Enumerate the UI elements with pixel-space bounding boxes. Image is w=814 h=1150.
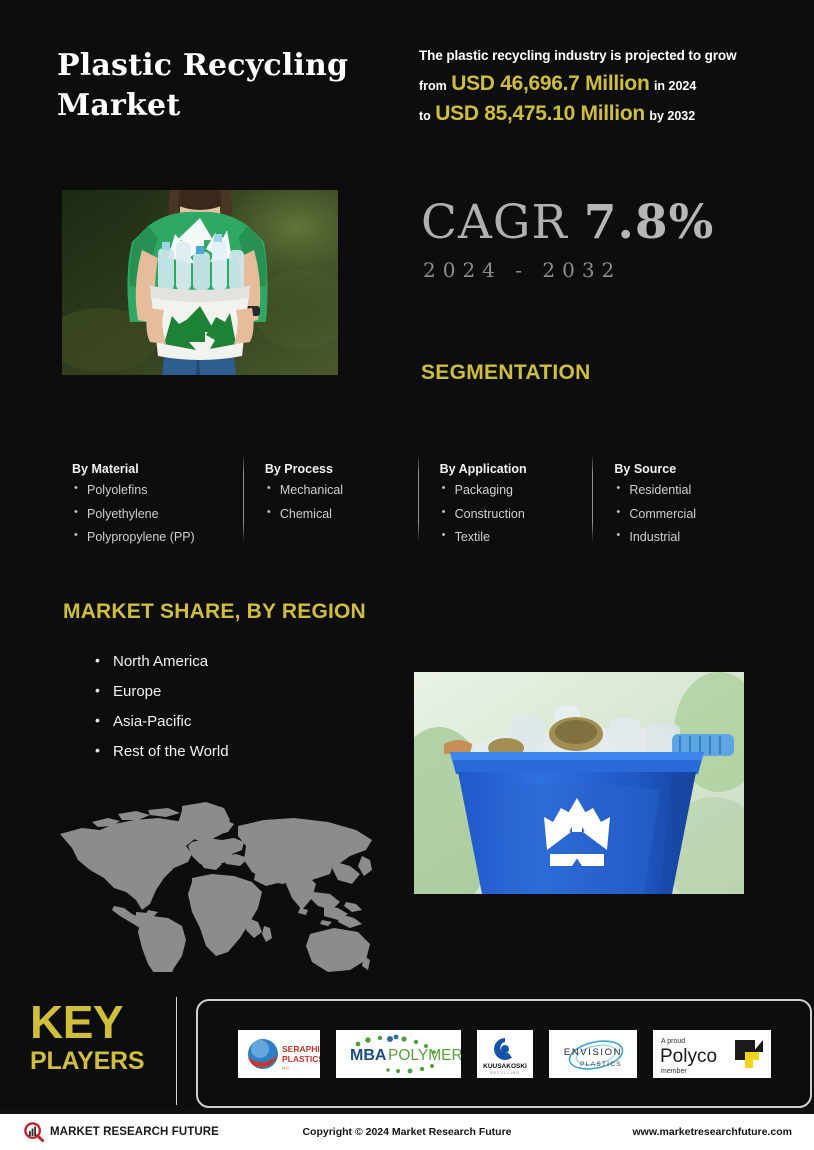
- projection-to-value: USD 85,475.10 Million: [435, 102, 645, 125]
- cagr-value: CAGR 7.8%: [421, 199, 714, 246]
- svg-text:Polyco: Polyco: [660, 1046, 717, 1067]
- region-item: Europe: [93, 684, 229, 699]
- segmentation-title: SEGMENTATION: [421, 361, 591, 385]
- logo-mba-polymers: MBA POLYMERS: [336, 1030, 461, 1078]
- key-players-line-1: KEY: [30, 1000, 170, 1044]
- projection-to-line: to USD 85,475.10 Million by 2032: [419, 102, 769, 125]
- segmentation-column-source: By Source Residential Commercial Industr…: [614, 462, 762, 555]
- segmentation-column-material: By Material Polyolefins Polyethylene Pol…: [72, 462, 265, 555]
- market-share-region-list: North America Europe Asia-Pacific Rest o…: [93, 654, 229, 774]
- segmentation-item: Chemical: [265, 508, 428, 521]
- segmentation-grid: By Material Polyolefins Polyethylene Pol…: [72, 462, 762, 555]
- svg-text:A proud: A proud: [661, 1038, 685, 1045]
- segmentation-heading: By Application: [440, 462, 603, 476]
- projection-to-label: to: [419, 109, 431, 123]
- region-item: North America: [93, 654, 229, 669]
- svg-text:member: member: [661, 1068, 687, 1075]
- segmentation-item: Polyethylene: [72, 508, 253, 521]
- cagr-label: CAGR: [421, 195, 568, 250]
- segmentation-item: Industrial: [614, 531, 750, 544]
- projection-to-year: by 2032: [649, 109, 695, 123]
- svg-text:SERAPHIM: SERAPHIM: [282, 1044, 320, 1054]
- segmentation-item: Packaging: [440, 484, 603, 497]
- segmentation-item: Polypropylene (PP): [72, 531, 253, 544]
- segmentation-heading: By Material: [72, 462, 253, 476]
- logo-seraphim-plastics: SERAPHIM PLASTICS LLC: [238, 1030, 320, 1078]
- svg-text:PLASTICS: PLASTICS: [282, 1054, 320, 1064]
- segmentation-item: Textile: [440, 531, 603, 544]
- key-players-label: KEY PLAYERS: [30, 1000, 170, 1076]
- region-item: Rest of the World: [93, 744, 229, 759]
- logo-kuusakoski-recycling: KUUSAKOSKI RECYCLING: [477, 1030, 533, 1078]
- footer: MARKET RESEARCH FUTURE Copyright © 2024 …: [0, 1114, 814, 1150]
- svg-text:MBA: MBA: [350, 1047, 387, 1064]
- column-divider: [243, 454, 244, 542]
- key-players-logo-box: SERAPHIM PLASTICS LLC: [196, 999, 812, 1108]
- cagr-number: 7.8%: [584, 195, 714, 250]
- logo-envision-plastics: ENVISION PLASTICS: [549, 1030, 637, 1078]
- photo-person-recycling-bin: [62, 190, 338, 375]
- page-title: Plastic Recycling Market: [57, 46, 397, 126]
- segmentation-heading: By Process: [265, 462, 428, 476]
- projection-from-label: from: [419, 79, 447, 93]
- world-map: [52, 800, 382, 972]
- column-divider: [418, 454, 419, 542]
- segmentation-item: Residential: [614, 484, 750, 497]
- key-players-line-2: PLAYERS: [30, 1048, 170, 1076]
- market-share-title: MARKET SHARE, BY REGION: [63, 600, 366, 624]
- segmentation-column-process: By Process Mechanical Chemical: [265, 462, 440, 555]
- projection-from-year: in 2024: [654, 79, 696, 93]
- svg-text:RECYCLING: RECYCLING: [490, 1071, 520, 1075]
- projection-block: The plastic recycling industry is projec…: [419, 47, 769, 125]
- svg-text:ENVISION: ENVISION: [563, 1047, 621, 1058]
- region-item: Asia-Pacific: [93, 714, 229, 729]
- logo-polyco: A proud Polyco member: [653, 1030, 771, 1078]
- footer-url[interactable]: www.marketresearchfuture.com: [632, 1126, 792, 1138]
- projection-from-line: from USD 46,696.7 Million in 2024: [419, 72, 769, 95]
- svg-text:KUUSAKOSKI: KUUSAKOSKI: [483, 1063, 527, 1070]
- infographic-page: Plastic Recycling Market The plastic rec…: [0, 0, 814, 1150]
- svg-text:LLC: LLC: [282, 1065, 289, 1070]
- segmentation-item: Polyolefins: [72, 484, 253, 497]
- photo-blue-recycling-bin: [414, 672, 744, 894]
- segmentation-column-application: By Application Packaging Construction Te…: [440, 462, 615, 555]
- key-players-separator: [176, 997, 177, 1105]
- segmentation-item: Commercial: [614, 508, 750, 521]
- segmentation-item: Construction: [440, 508, 603, 521]
- svg-text:POLYMERS: POLYMERS: [388, 1047, 461, 1064]
- segmentation-heading: By Source: [614, 462, 750, 476]
- column-divider: [592, 454, 593, 542]
- cagr-period: 2024 - 2032: [423, 258, 621, 282]
- segmentation-item: Mechanical: [265, 484, 428, 497]
- svg-text:PLASTICS: PLASTICS: [580, 1061, 622, 1068]
- projection-line-1: The plastic recycling industry is projec…: [419, 47, 769, 65]
- projection-from-value: USD 46,696.7 Million: [451, 72, 649, 95]
